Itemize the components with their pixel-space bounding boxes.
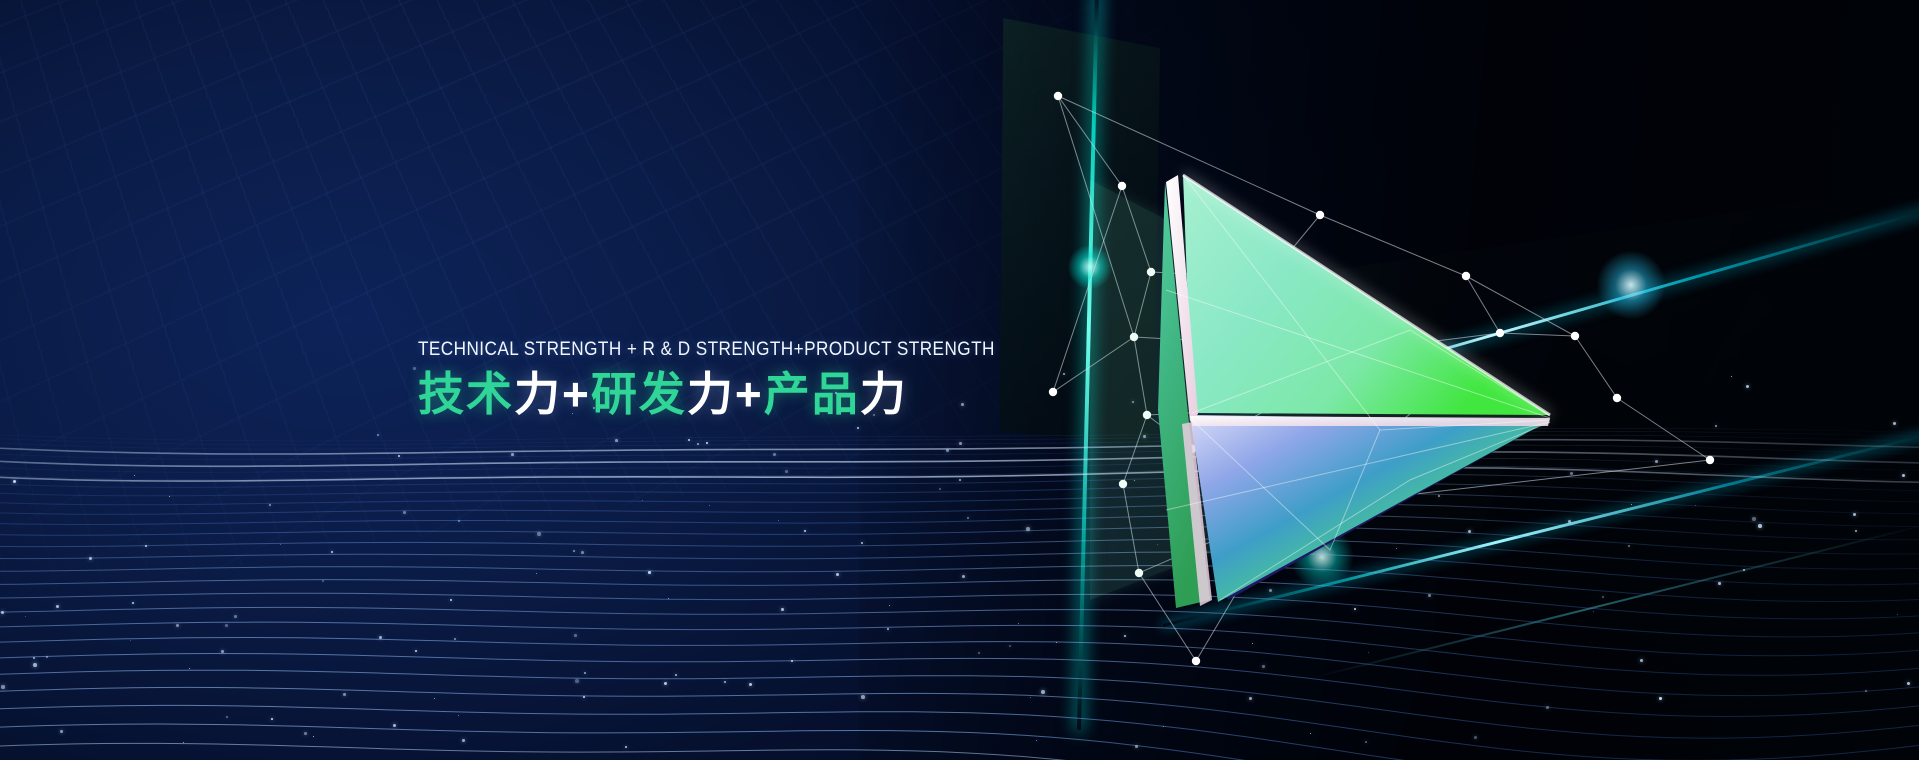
particle-dot — [1354, 608, 1356, 610]
headline-part-7: 力 — [860, 368, 908, 420]
particle-dot — [573, 550, 575, 552]
particle-dot — [962, 575, 965, 578]
particle-dot — [978, 652, 980, 654]
network-node — [1147, 268, 1155, 276]
particle-dot — [1328, 529, 1330, 531]
particle-dot — [836, 573, 839, 576]
particle-dot — [574, 634, 577, 637]
particle-dot — [1134, 480, 1135, 481]
particle-dot — [593, 407, 595, 409]
headline-part-3: 研发 — [591, 368, 687, 420]
particle-dot — [331, 551, 333, 553]
particle-dot — [781, 608, 784, 611]
particle-dot — [861, 695, 865, 699]
network-link — [1388, 347, 1427, 401]
network-link — [1147, 415, 1192, 449]
particle-dot — [33, 657, 35, 659]
headline-part-2: + — [562, 368, 591, 420]
particle-dot — [1468, 530, 1471, 533]
particle-dot — [1365, 741, 1367, 743]
particle-dot — [873, 414, 875, 416]
particle-dot — [145, 545, 147, 547]
network-node — [1130, 333, 1138, 341]
particle-dot — [1018, 623, 1019, 624]
network-link — [1268, 215, 1320, 278]
network-node — [1049, 388, 1057, 396]
network-link — [1388, 333, 1500, 347]
network-link — [1134, 337, 1147, 415]
particle-dot — [1009, 645, 1011, 647]
particle-dot — [615, 439, 618, 442]
network-link — [1617, 398, 1710, 460]
cyan-diagonal-beam-3 — [1309, 523, 1919, 680]
particle-dot — [511, 453, 514, 456]
dark-diagonal-panel — [1230, 200, 1919, 670]
particle-dot — [462, 739, 465, 742]
network-link — [1196, 509, 1286, 661]
particle-dot — [1855, 530, 1857, 532]
network-link — [1268, 278, 1277, 345]
network-link — [1058, 96, 1320, 215]
cyan-diagonal-beam-2 — [1162, 416, 1919, 627]
particle-dot — [1865, 690, 1867, 692]
headline-part-0: 技术 — [418, 368, 514, 420]
network-node — [1282, 505, 1290, 513]
particle-dot — [322, 580, 324, 582]
particle-dot — [959, 442, 962, 445]
network-node — [1496, 329, 1504, 337]
particle-dot — [413, 367, 416, 370]
headline-part-6: 产品 — [764, 368, 860, 420]
particle-dot — [1196, 508, 1197, 509]
particle-dot — [1252, 643, 1253, 644]
network-link — [1123, 484, 1139, 573]
network-node — [1273, 341, 1281, 349]
network-link — [1123, 415, 1147, 484]
particle-dot — [1263, 541, 1266, 544]
particle-dot — [1907, 682, 1910, 685]
network-node — [1119, 480, 1127, 488]
particle-dot — [458, 715, 459, 716]
particle-dot — [1893, 422, 1896, 425]
network-link — [1277, 345, 1388, 347]
particle-dot — [1132, 401, 1134, 403]
particle-dot — [1304, 442, 1306, 444]
particle-dot — [1593, 611, 1594, 612]
particle-dot — [134, 475, 135, 476]
network-node — [1613, 394, 1621, 402]
network-link — [1466, 276, 1575, 336]
particle-dot — [642, 500, 643, 501]
particle-dot — [648, 571, 651, 574]
particle-dot — [1902, 474, 1905, 477]
network-node — [1118, 182, 1126, 190]
particle-dot — [169, 496, 170, 497]
particle-dot — [749, 683, 752, 686]
particle-dot — [664, 682, 667, 685]
particle-dot — [1640, 659, 1643, 662]
particle-dot — [584, 672, 586, 674]
headline-part-5: + — [735, 368, 764, 420]
network-link — [1122, 186, 1151, 272]
cyan-vertical-beam — [1077, 0, 1099, 730]
eyebrow-text: TECHNICAL STRENGTH + R & D STRENGTH+PROD… — [418, 338, 981, 360]
particle-dot — [496, 397, 498, 399]
particle-dot — [688, 439, 690, 441]
particle-dot — [1631, 504, 1632, 505]
particle-dot — [189, 668, 190, 669]
particle-dot — [1655, 460, 1658, 463]
network-link — [1058, 96, 1122, 186]
particle-dot — [1546, 706, 1549, 709]
particle-dot — [959, 479, 961, 481]
particle-dot — [835, 392, 837, 394]
particle-dot — [1063, 373, 1065, 375]
particle-dot — [967, 517, 969, 519]
network-link — [1139, 573, 1196, 661]
particle-dot — [454, 638, 456, 640]
network-link — [1286, 460, 1710, 509]
network-node — [1706, 456, 1714, 464]
particle-dot — [393, 724, 396, 727]
right-vignette — [859, 0, 1919, 760]
particle-dot — [1428, 475, 1429, 476]
particle-dot — [1715, 425, 1717, 427]
particle-dot — [1234, 470, 1236, 472]
particle-dot — [221, 650, 224, 653]
particle-dot — [1041, 690, 1045, 694]
network-node — [1423, 397, 1431, 405]
particle-dot — [536, 573, 537, 574]
particle-dot — [25, 616, 26, 617]
particle-dot — [1628, 545, 1630, 547]
particle-dot — [1570, 472, 1573, 475]
particle-dot — [675, 674, 677, 676]
particle-dot — [234, 615, 237, 618]
headline-part-1: 力 — [514, 368, 562, 420]
arrow-prism-graphic — [1080, 130, 1900, 630]
headline-part-4: 力 — [687, 368, 735, 420]
network-link — [1053, 337, 1134, 392]
particle-dot — [1135, 745, 1138, 748]
lens-flare-right — [1596, 250, 1666, 320]
particle-dot — [379, 636, 382, 639]
network-link — [1192, 347, 1388, 449]
particle-dot — [13, 480, 16, 483]
network-node — [1188, 445, 1196, 453]
particle-dot — [377, 434, 379, 436]
particle-dot — [33, 663, 37, 667]
particle-dot — [1853, 513, 1856, 516]
particle-dot — [1659, 697, 1662, 700]
particle-dot — [343, 693, 346, 696]
particle-dot — [709, 505, 710, 506]
particle-dot — [1030, 697, 1031, 698]
particle-dot — [706, 442, 708, 444]
particle-dot — [1396, 548, 1397, 549]
particle-dot — [1, 685, 5, 689]
particle-dot — [572, 413, 573, 414]
particle-dot — [225, 624, 228, 627]
lens-flare-bottom — [1290, 525, 1354, 589]
particle-dot — [434, 698, 435, 699]
particle-dot — [398, 455, 400, 457]
particle-dot — [1157, 544, 1158, 545]
network-link — [1134, 272, 1151, 337]
dark-vertical-panel — [1000, 18, 1160, 448]
particle-dot — [415, 650, 417, 652]
particle-dot — [1124, 635, 1126, 637]
particle-dot — [861, 542, 863, 544]
particle-dot — [1262, 665, 1265, 668]
dark-triangle-panel — [1390, 330, 1919, 760]
particle-dot — [60, 730, 63, 733]
particle-dot — [625, 746, 627, 748]
network-node — [1316, 211, 1324, 219]
particle-dot — [1249, 697, 1252, 700]
constellation-network — [0, 0, 1919, 760]
particle-field — [0, 330, 1919, 760]
top-curved-grid — [0, 0, 1525, 609]
particle-dot — [1602, 596, 1604, 598]
network-node — [1054, 92, 1062, 100]
particle-dot — [1310, 733, 1311, 734]
particle-dot — [1036, 740, 1037, 741]
particle-dot — [1428, 594, 1431, 597]
particle-dot — [804, 530, 806, 532]
particle-dot — [668, 598, 669, 599]
dark-notch-panel — [1640, 290, 1850, 420]
particle-dot — [1, 611, 4, 614]
particle-dot — [130, 640, 131, 641]
particle-dot — [537, 532, 541, 536]
particle-dot — [1474, 736, 1477, 739]
network-node — [1192, 657, 1200, 665]
hero-banner: TECHNICAL STRENGTH + R & D STRENGTH+PROD… — [0, 0, 1919, 760]
wave-mesh-terrain — [0, 350, 1919, 760]
particle-dot — [56, 605, 59, 608]
particle-dot — [1743, 569, 1745, 571]
network-link — [1134, 337, 1277, 345]
particle-dot — [1269, 589, 1272, 592]
particle-dot — [269, 504, 271, 506]
particle-dot — [1368, 652, 1369, 653]
network-link — [1151, 272, 1268, 278]
network-link — [1286, 401, 1427, 509]
particle-dot — [887, 628, 889, 630]
particle-dot — [724, 681, 726, 683]
particle-dot — [280, 544, 281, 545]
particle-dot — [46, 656, 48, 658]
lens-flare-left — [1068, 245, 1112, 289]
particle-dot — [458, 520, 460, 522]
particle-dot — [403, 511, 406, 514]
particle-dot — [785, 470, 788, 473]
particle-dot — [857, 427, 859, 429]
particle-dot — [1438, 495, 1440, 497]
particle-dot — [271, 718, 273, 720]
network-link — [1320, 215, 1466, 276]
network-node — [1135, 569, 1143, 577]
network-node — [1143, 411, 1151, 419]
particle-dot — [1056, 642, 1057, 643]
network-link — [1139, 509, 1286, 573]
particle-dot — [1731, 376, 1732, 377]
particle-dot — [1568, 520, 1571, 523]
particle-dot — [1026, 527, 1030, 531]
particle-dot — [89, 557, 92, 560]
particle-dot — [1746, 385, 1749, 388]
particle-dot — [450, 599, 452, 601]
particle-dot — [132, 602, 134, 604]
particle-dot — [313, 736, 314, 737]
particle-dot — [697, 443, 699, 445]
particle-dot — [889, 605, 890, 606]
particle-dot — [1392, 427, 1395, 430]
network-link — [1053, 186, 1122, 392]
particle-dot — [791, 660, 793, 662]
network-link — [1058, 96, 1134, 337]
particle-dot — [1695, 505, 1696, 506]
particle-dot — [961, 403, 964, 406]
network-node — [1571, 332, 1579, 340]
network-link — [1575, 336, 1617, 398]
particle-dot — [939, 488, 941, 490]
particle-dot — [1752, 517, 1756, 521]
particle-dot — [1897, 614, 1898, 615]
particle-dot — [778, 520, 779, 521]
cyan-diagonal-beam-1 — [1244, 195, 1919, 407]
particle-dot — [183, 742, 184, 743]
headline-block: TECHNICAL STRENGTH + R & D STRENGTH+PROD… — [418, 338, 1058, 421]
particle-dot — [583, 696, 585, 698]
particle-dot — [304, 732, 307, 735]
particle-dot — [1718, 582, 1721, 585]
particle-dot — [773, 453, 776, 456]
particle-dot — [226, 716, 228, 718]
particle-dot — [946, 449, 949, 452]
network-node — [1264, 274, 1272, 282]
particle-dot — [1163, 726, 1164, 727]
particle-dot — [1758, 524, 1762, 528]
particle-dot — [176, 624, 179, 627]
network-link — [1500, 333, 1575, 336]
particle-dot — [581, 551, 584, 554]
network-node — [1462, 272, 1470, 280]
network-link — [1147, 401, 1427, 415]
particle-dot — [1143, 435, 1146, 438]
particle-dot — [575, 679, 579, 683]
network-node — [1384, 343, 1392, 351]
page-title: 技术力+研发力+产品力 — [418, 369, 1058, 421]
network-link — [1466, 276, 1500, 333]
